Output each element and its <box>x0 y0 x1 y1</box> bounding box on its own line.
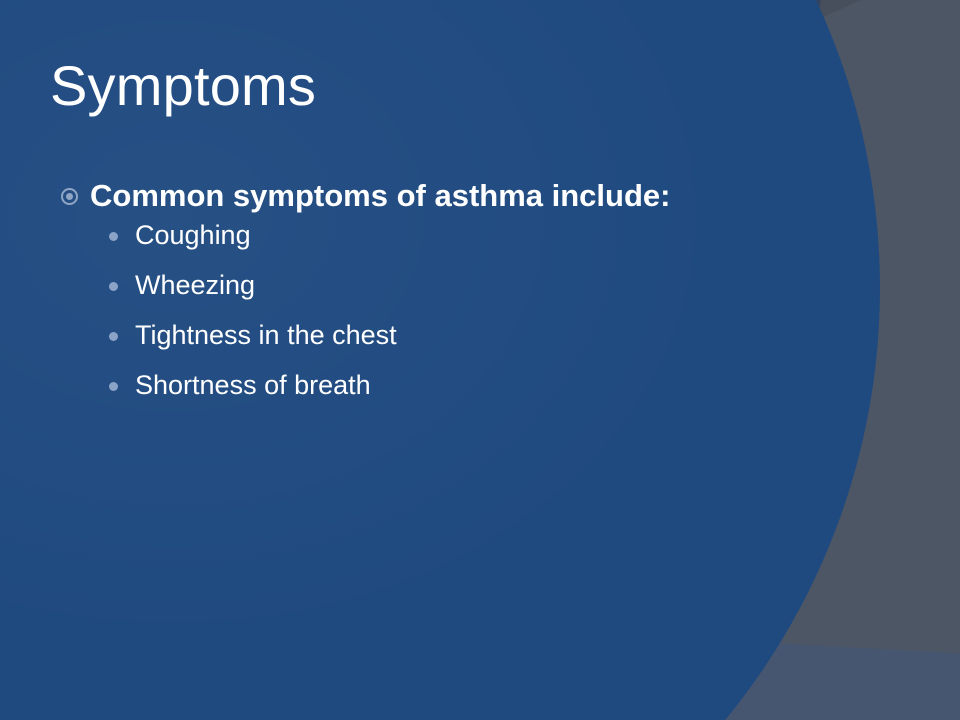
bullet-item-level2: Tightness in the chest <box>104 322 900 350</box>
bullet-item-level2: Shortness of breath <box>104 372 900 400</box>
bullet-item-level2-label: Tightness in the chest <box>135 322 900 349</box>
bullet-item-level2: Wheezing <box>104 272 900 300</box>
slide-content: Symptoms Common symptoms of asthma inclu… <box>0 0 960 720</box>
bullet-item-level1: Common symptoms of asthma include: <box>54 176 900 216</box>
bullet-item-level2: Coughing <box>104 222 900 250</box>
bullet-item-level1-label: Common symptoms of asthma include: <box>90 176 900 216</box>
bullet-item-level2-label: Coughing <box>135 222 900 249</box>
bullet-item-level2-label: Shortness of breath <box>135 372 900 399</box>
round-bullet-icon <box>104 272 135 300</box>
target-dot-bullet-icon <box>54 177 90 217</box>
presentation-slide: Symptoms Common symptoms of asthma inclu… <box>0 0 960 720</box>
round-bullet-icon <box>104 372 135 400</box>
round-bullet-icon <box>104 322 135 350</box>
round-bullet-icon <box>104 222 135 250</box>
bullet-sublist-level2: Coughing Wheezing Tightness in the chest <box>54 222 900 400</box>
bullet-item-level2-label: Wheezing <box>135 272 900 299</box>
slide-body-list: Common symptoms of asthma include: Cough… <box>54 176 900 422</box>
slide-title: Symptoms <box>50 57 316 116</box>
